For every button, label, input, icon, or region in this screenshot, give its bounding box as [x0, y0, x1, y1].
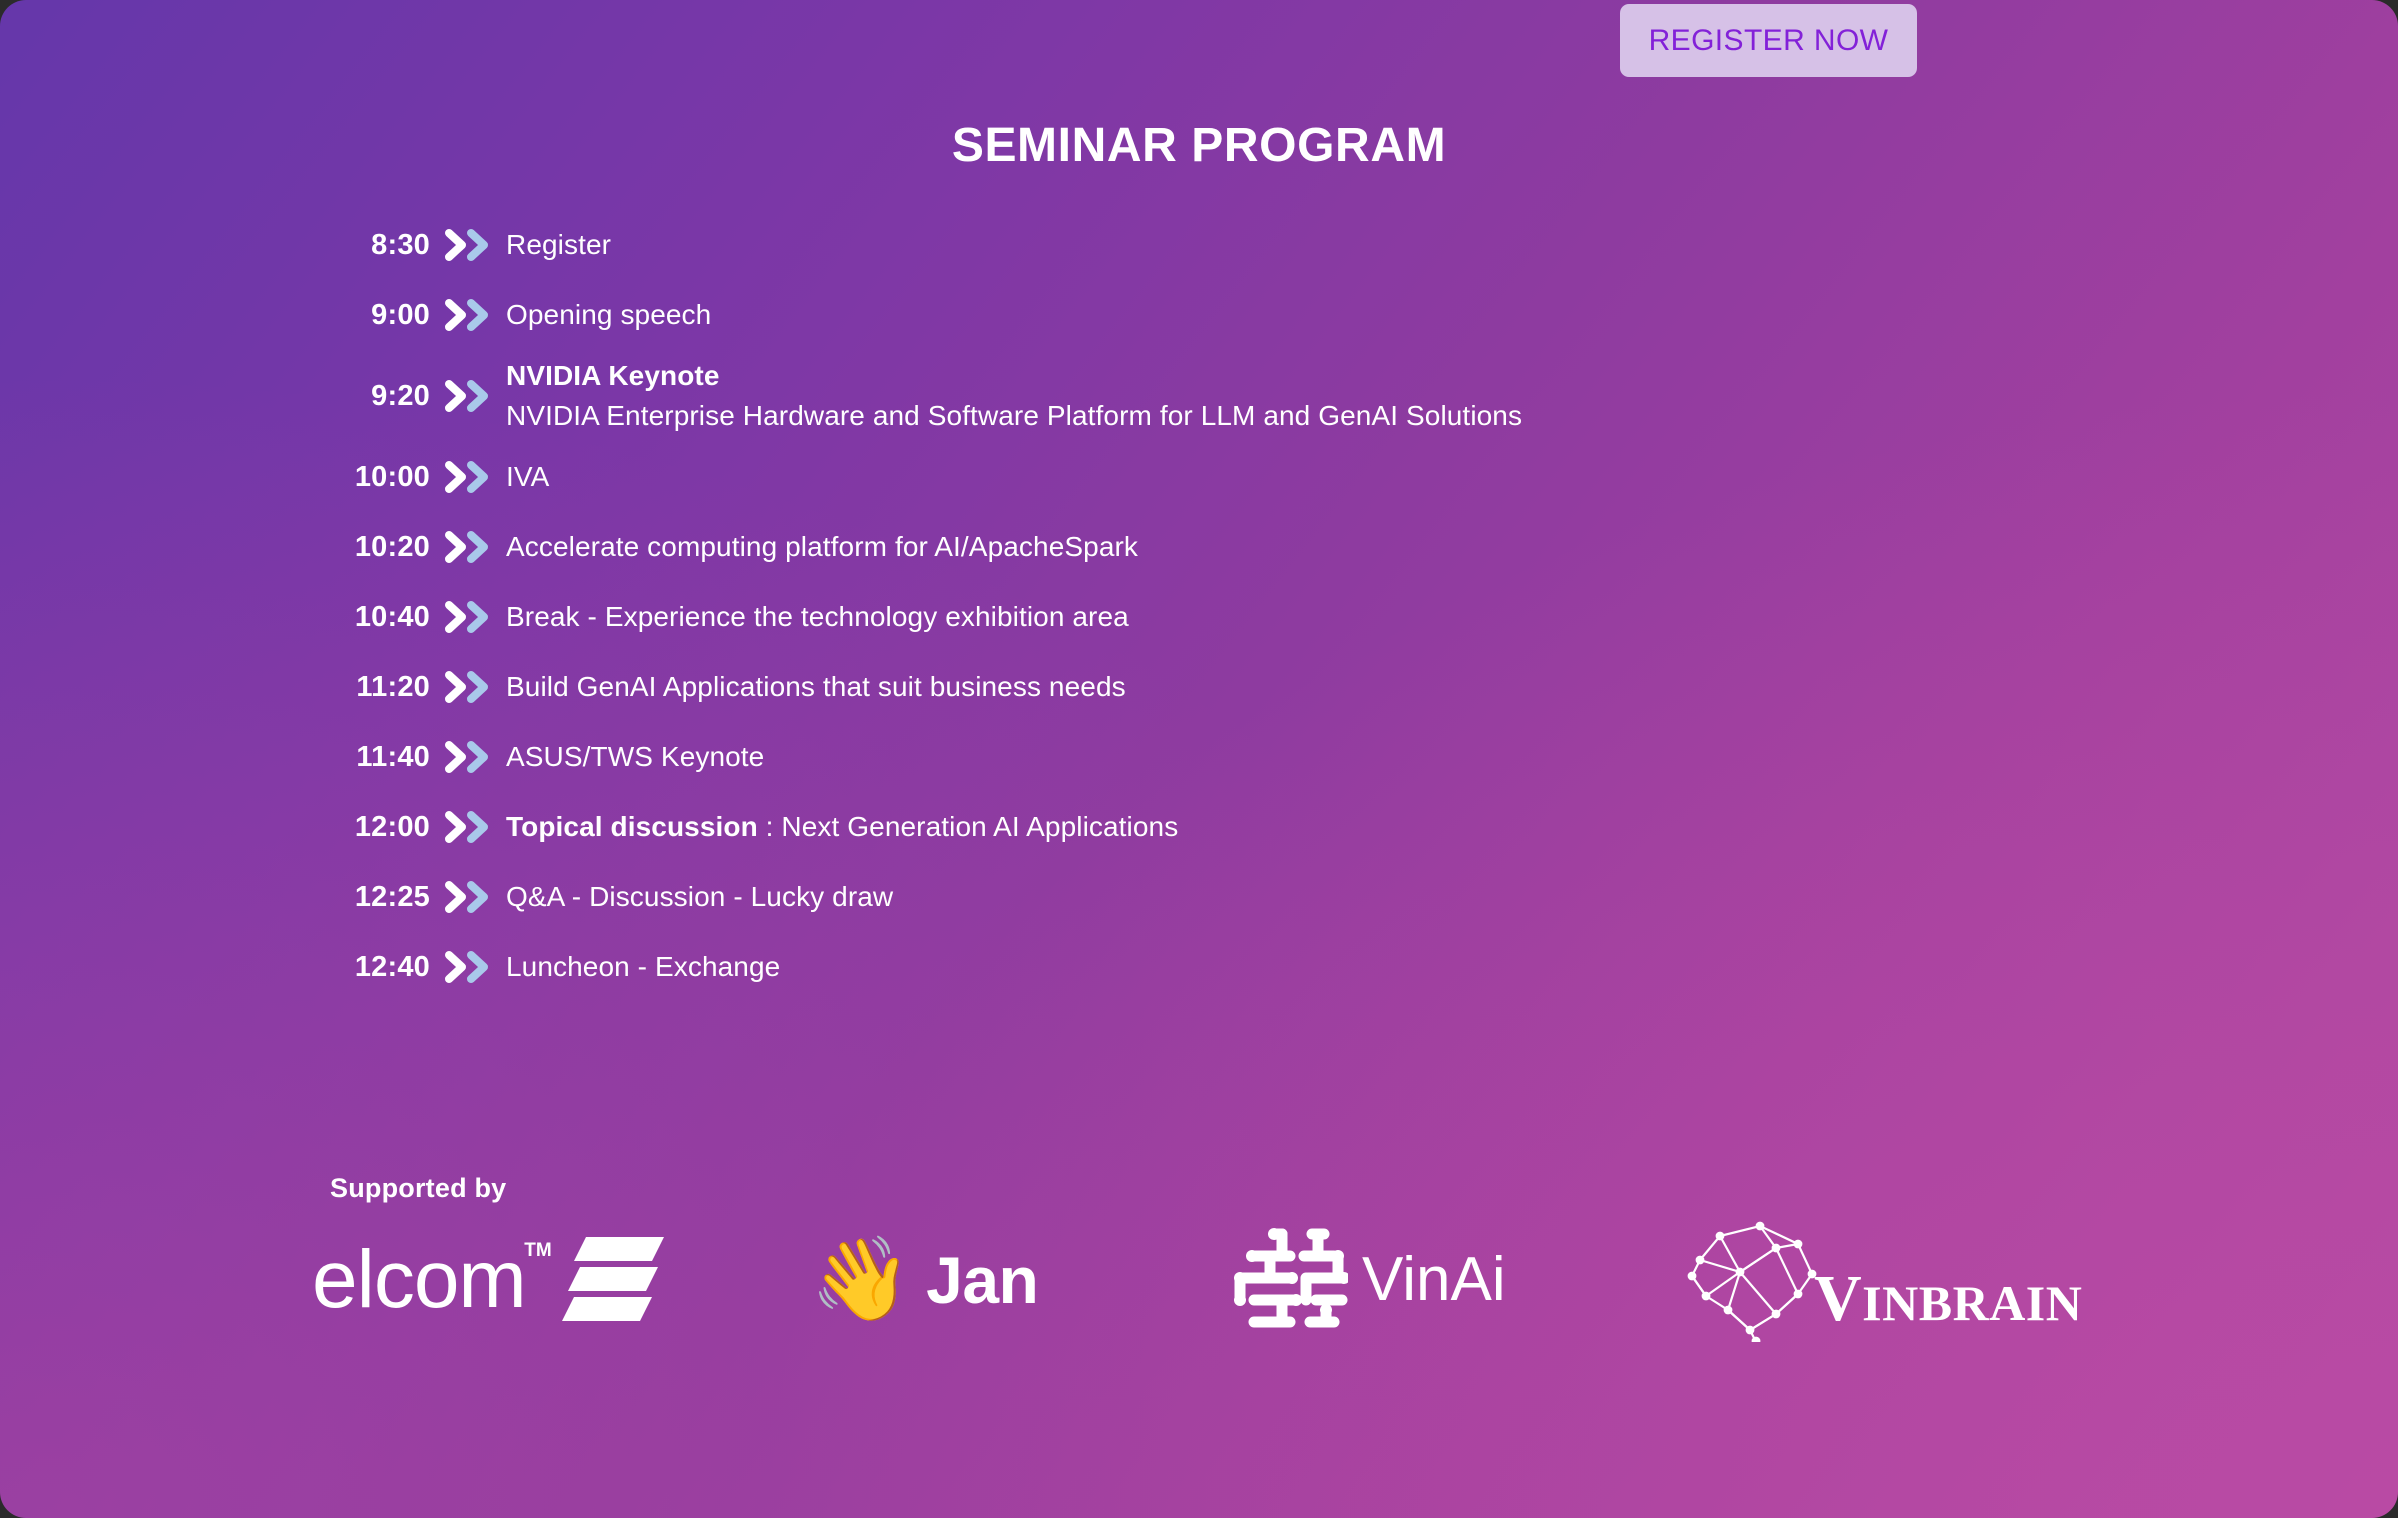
double-chevron-right-icon	[430, 877, 506, 917]
double-chevron-right-icon	[430, 737, 506, 777]
schedule-row: 9:20NVIDIA KeynoteNVIDIA Enterprise Hard…	[0, 350, 2398, 442]
schedule-time: 8:30	[310, 229, 430, 262]
double-chevron-right-icon	[430, 597, 506, 637]
seminar-program-slide: REGISTER NOW SEMINAR PROGRAM 8:30Registe…	[0, 0, 2398, 1518]
schedule-time: 12:00	[310, 811, 430, 844]
double-chevron-right-icon	[430, 807, 506, 847]
sponsor-logo-vinai: VinAi	[1220, 1210, 1670, 1350]
schedule-entry-title: Register	[506, 229, 611, 260]
schedule-entry-title: Build GenAI Applications that suit busin…	[506, 671, 1126, 702]
double-chevron-right-icon	[430, 667, 506, 707]
sponsor-logo-vinbrain: VINBRAIN	[1670, 1210, 2130, 1350]
vinbrain-brain-network-icon	[1680, 1214, 1832, 1347]
schedule-entry-title: Opening speech	[506, 299, 711, 330]
schedule-entry-text: NVIDIA KeynoteNVIDIA Enterprise Hardware…	[506, 356, 1522, 436]
schedule-entry-text: Q&A - Discussion - Lucky draw	[506, 877, 893, 917]
double-chevron-right-icon	[430, 295, 506, 335]
schedule-entry-text: Luncheon - Exchange	[506, 947, 780, 987]
schedule-row: 12:40Luncheon - Exchange	[0, 932, 2398, 1002]
schedule-row: 9:00Opening speech	[0, 280, 2398, 350]
vinai-circuit-mark-icon	[1230, 1222, 1348, 1339]
schedule-list: 8:30Register9:00Opening speech9:20NVIDIA…	[0, 210, 2398, 1002]
schedule-time: 10:00	[310, 461, 430, 494]
schedule-entry-text: IVA	[506, 457, 549, 497]
schedule-time: 12:40	[310, 951, 430, 984]
schedule-row: 8:30Register	[0, 210, 2398, 280]
schedule-time: 9:20	[310, 380, 430, 413]
double-chevron-right-icon	[430, 457, 506, 497]
schedule-entry-text: Opening speech	[506, 295, 711, 335]
schedule-row: 12:25Q&A - Discussion - Lucky draw	[0, 862, 2398, 932]
schedule-row: 11:40ASUS/TWS Keynote	[0, 722, 2398, 792]
sponsor-logo-jan: 👋 Jan	[780, 1210, 1220, 1350]
schedule-entry-text: Register	[506, 225, 611, 265]
schedule-row: 10:40Break - Experience the technology e…	[0, 582, 2398, 652]
elcom-trademark-symbol: TM	[524, 1241, 551, 1260]
schedule-entry-title: NVIDIA Keynote	[506, 360, 720, 391]
schedule-entry-text: Build GenAI Applications that suit busin…	[506, 667, 1126, 707]
schedule-entry-title: ASUS/TWS Keynote	[506, 741, 764, 772]
vinbrain-word-rest: INBRAIN	[1862, 1275, 2082, 1331]
schedule-time: 9:00	[310, 299, 430, 332]
schedule-entry-title: Q&A - Discussion - Lucky draw	[506, 881, 893, 912]
schedule-row: 10:20Accelerate computing platform for A…	[0, 512, 2398, 582]
elcom-word-text: elcom	[312, 1234, 526, 1325]
schedule-entry-title: Topical discussion	[506, 811, 758, 842]
elcom-e-mark-icon	[560, 1235, 664, 1326]
schedule-entry-title: Break - Experience the technology exhibi…	[506, 601, 1129, 632]
schedule-time: 12:25	[310, 881, 430, 914]
schedule-entry-trailing: : Next Generation AI Applications	[758, 811, 1179, 842]
schedule-time: 11:40	[310, 741, 430, 774]
schedule-entry-text: ASUS/TWS Keynote	[506, 737, 764, 777]
double-chevron-right-icon	[430, 376, 506, 416]
double-chevron-right-icon	[430, 947, 506, 987]
schedule-entry-subtitle: NVIDIA Enterprise Hardware and Software …	[506, 396, 1522, 436]
sponsor-logo-elcom: elcomTM	[300, 1210, 780, 1350]
schedule-entry-text: Break - Experience the technology exhibi…	[506, 597, 1129, 637]
vinbrain-initial: V	[1814, 1262, 1862, 1335]
elcom-wordmark: elcomTM	[312, 1239, 526, 1321]
double-chevron-right-icon	[430, 225, 506, 265]
page-title: SEMINAR PROGRAM	[0, 118, 2398, 173]
schedule-entry-text: Topical discussion : Next Generation AI …	[506, 807, 1178, 847]
schedule-time: 11:20	[310, 671, 430, 704]
vinbrain-wordmark: VINBRAIN	[1814, 1266, 2082, 1332]
double-chevron-right-icon	[430, 527, 506, 567]
schedule-row: 12:00Topical discussion : Next Generatio…	[0, 792, 2398, 862]
schedule-row: 10:00IVA	[0, 442, 2398, 512]
schedule-entry-title: IVA	[506, 461, 549, 492]
schedule-row: 11:20Build GenAI Applications that suit …	[0, 652, 2398, 722]
waving-hand-emoji: 👋	[810, 1239, 912, 1321]
jan-wordmark: Jan	[926, 1247, 1038, 1313]
vinai-wordmark: VinAi	[1362, 1249, 1506, 1311]
sponsor-logo-strip: elcomTM 👋 Jan	[300, 1210, 2140, 1350]
register-now-button[interactable]: REGISTER NOW	[1620, 4, 1917, 77]
schedule-entry-title: Accelerate computing platform for AI/Apa…	[506, 531, 1138, 562]
schedule-time: 10:20	[310, 531, 430, 564]
schedule-entry-text: Accelerate computing platform for AI/Apa…	[506, 527, 1138, 567]
supported-by-label: Supported by	[330, 1173, 506, 1204]
schedule-time: 10:40	[310, 601, 430, 634]
schedule-entry-title: Luncheon - Exchange	[506, 951, 780, 982]
